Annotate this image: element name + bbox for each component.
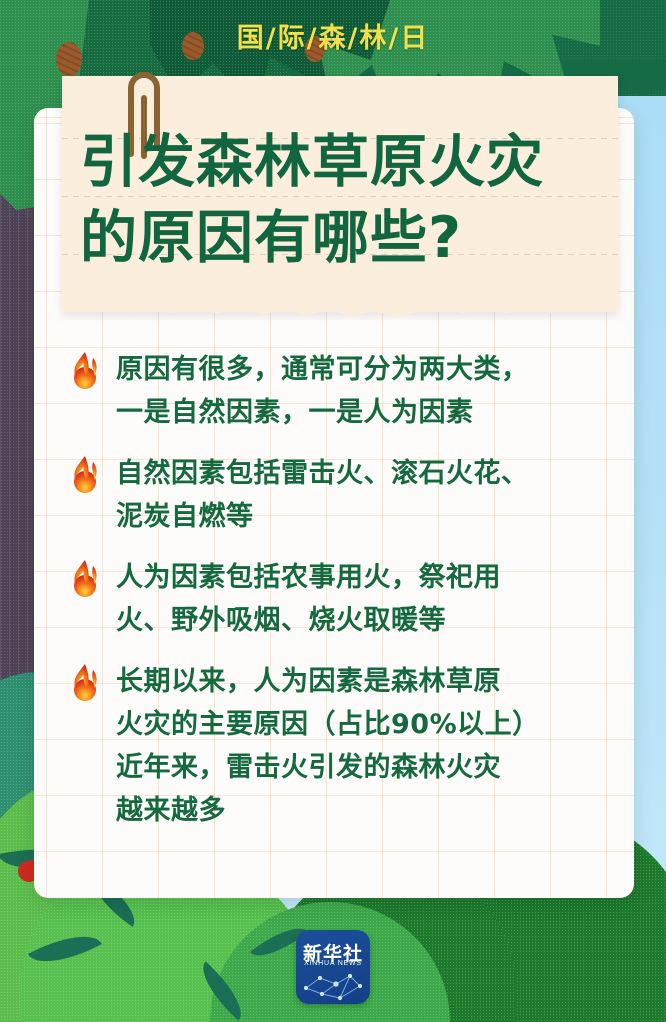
list-item-text: 人为因素包括农事用火，祭祀用 火、野外吸烟、烧火取暖等: [116, 556, 501, 642]
flame-icon: [68, 662, 102, 702]
network-graphic-icon: [296, 968, 370, 1004]
page-title-line-2: 的原因有哪些?: [80, 200, 620, 276]
flame-icon: [68, 558, 102, 598]
banner-title: 国/际/森/林/日: [0, 16, 666, 55]
list-item-line: 自然因素包括雷击火、滚石火花、: [116, 452, 529, 495]
list-item-text: 长期以来，人为因素是森林草原 火灾的主要原因（占比90%以上） 近年来，雷击火引…: [116, 660, 540, 832]
list-item-line: 越来越多: [116, 789, 540, 832]
bullet-list: 原因有很多，通常可分为两大类， 一是自然因素，一是人为因素 自然因素包括雷击火、…: [68, 348, 628, 850]
list-item: 原因有很多，通常可分为两大类， 一是自然因素，一是人为因素: [68, 348, 628, 434]
flame-icon: [68, 454, 102, 494]
xinhua-news-logo: 新华社 XINHUA NEWS: [296, 930, 370, 1004]
list-item-line: 火灾的主要原因（占比90%以上）: [116, 703, 540, 746]
page-title: 引发森林草原火灾 的原因有哪些?: [80, 124, 620, 276]
list-item-line: 原因有很多，通常可分为两大类，: [116, 348, 529, 391]
poster-root: 国/际/森/林/日 引发森林草原火灾 的原因有哪些?: [0, 0, 666, 1022]
list-item-line: 人为因素包括农事用火，祭祀用: [116, 556, 501, 599]
list-item-line: 一是自然因素，一是人为因素: [116, 391, 529, 434]
list-item: 自然因素包括雷击火、滚石火花、 泥炭自燃等: [68, 452, 628, 538]
list-item-line: 泥炭自燃等: [116, 495, 529, 538]
list-item-text: 原因有很多，通常可分为两大类， 一是自然因素，一是人为因素: [116, 348, 529, 434]
list-item-line: 长期以来，人为因素是森林草原: [116, 660, 540, 703]
flame-icon: [68, 350, 102, 390]
logo-english-text: XINHUA NEWS: [296, 960, 370, 967]
list-item-text: 自然因素包括雷击火、滚石火花、 泥炭自燃等: [116, 452, 529, 538]
list-item-line: 近年来，雷击火引发的森林火灾: [116, 746, 540, 789]
list-item-line: 火、野外吸烟、烧火取暖等: [116, 599, 501, 642]
page-title-line-1: 引发森林草原火灾: [80, 124, 620, 200]
list-item: 人为因素包括农事用火，祭祀用 火、野外吸烟、烧火取暖等: [68, 556, 628, 642]
list-item: 长期以来，人为因素是森林草原 火灾的主要原因（占比90%以上） 近年来，雷击火引…: [68, 660, 628, 832]
